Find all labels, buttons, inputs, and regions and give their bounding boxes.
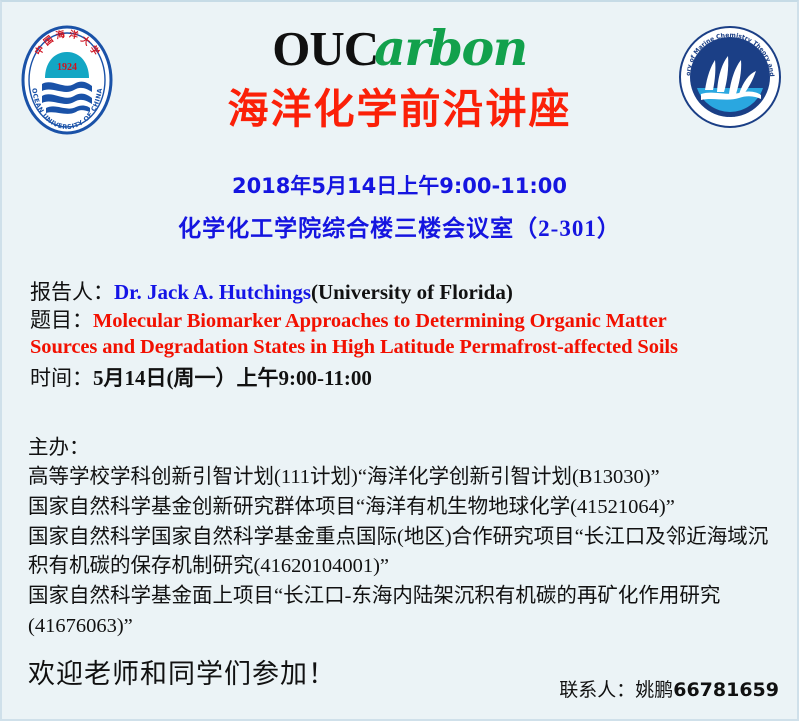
- speaker-row: 报告人：Dr. Jack A. Hutchings(University of …: [30, 279, 797, 305]
- topic-label: 题目：: [30, 308, 93, 332]
- brand-block: OUCarbon 海洋化学前沿讲座: [2, 24, 797, 130]
- topic-row: 题目：Molecular Biomarker Approaches to Det…: [30, 307, 797, 361]
- date-line: 2018年5月14日上午9:00-11:00: [2, 170, 797, 200]
- poster-footer: 欢迎老师和同学们参加！ 联系人：姚鹏66781659: [2, 645, 797, 705]
- contact-label: 联系人：姚鹏: [559, 680, 673, 701]
- page-title: 海洋化学前沿讲座: [2, 89, 797, 130]
- time-row: 时间：5月14日(周一）上午9:00-11:00: [30, 365, 797, 391]
- carbon-wordmark-part: arbon: [374, 19, 527, 77]
- contact-phone: 66781659: [673, 679, 779, 701]
- sponsors-block: 主办： 高等学校学科创新引智计划(111计划)“海洋化学创新引智计划(B1303…: [28, 434, 780, 642]
- speaker-name: Dr. Jack A. Hutchings: [114, 280, 311, 304]
- time-label: 时间：: [30, 366, 93, 390]
- poster-header: 1924 中 国 海 洋 大 学 OCEAN UNIVERSITY OF CHI…: [2, 2, 797, 164]
- speaker-affiliation: (University of Florida): [311, 280, 513, 304]
- ouc-wordmark-part: OUC: [272, 21, 378, 76]
- sponsor-line: 国家自然科学国家自然科学基金重点国际(地区)合作研究项目“长江口及邻近海域沉积有…: [28, 523, 780, 582]
- contact-info: 联系人：姚鹏66781659: [559, 675, 779, 702]
- datetime-venue-block: 2018年5月14日上午9:00-11:00 化学化工学院综合楼三楼会议室（2-…: [2, 170, 797, 243]
- sponsor-line: 国家自然科学基金面上项目“长江口-东海内陆架沉积有机碳的再矿化作用研究(4167…: [28, 582, 780, 641]
- speaker-label: 报告人：: [30, 280, 114, 304]
- welcome-message: 欢迎老师和同学们参加！: [28, 652, 336, 691]
- sponsors-heading: 主办：: [28, 434, 780, 464]
- time-value: 5月14日(周一）上午9:00-11:00: [93, 366, 372, 390]
- talk-details-block: 报告人：Dr. Jack A. Hutchings(University of …: [30, 279, 797, 392]
- poster-root: 1924 中 国 海 洋 大 学 OCEAN UNIVERSITY OF CHI…: [0, 0, 799, 721]
- topic-line-2: Sources and Degradation States in High L…: [30, 335, 797, 361]
- sponsor-line: 高等学校学科创新引智计划(111计划)“海洋化学创新引智计划(B13030)”: [28, 463, 780, 493]
- oucarbon-wordmark: OUCarbon: [272, 24, 527, 73]
- sponsor-line: 国家自然科学基金创新研究群体项目“海洋有机生物地球化学(41521064)”: [28, 493, 780, 523]
- topic-line-1: Molecular Biomarker Approaches to Determ…: [93, 310, 667, 332]
- venue-line: 化学化工学院综合楼三楼会议室（2-301）: [2, 209, 797, 243]
